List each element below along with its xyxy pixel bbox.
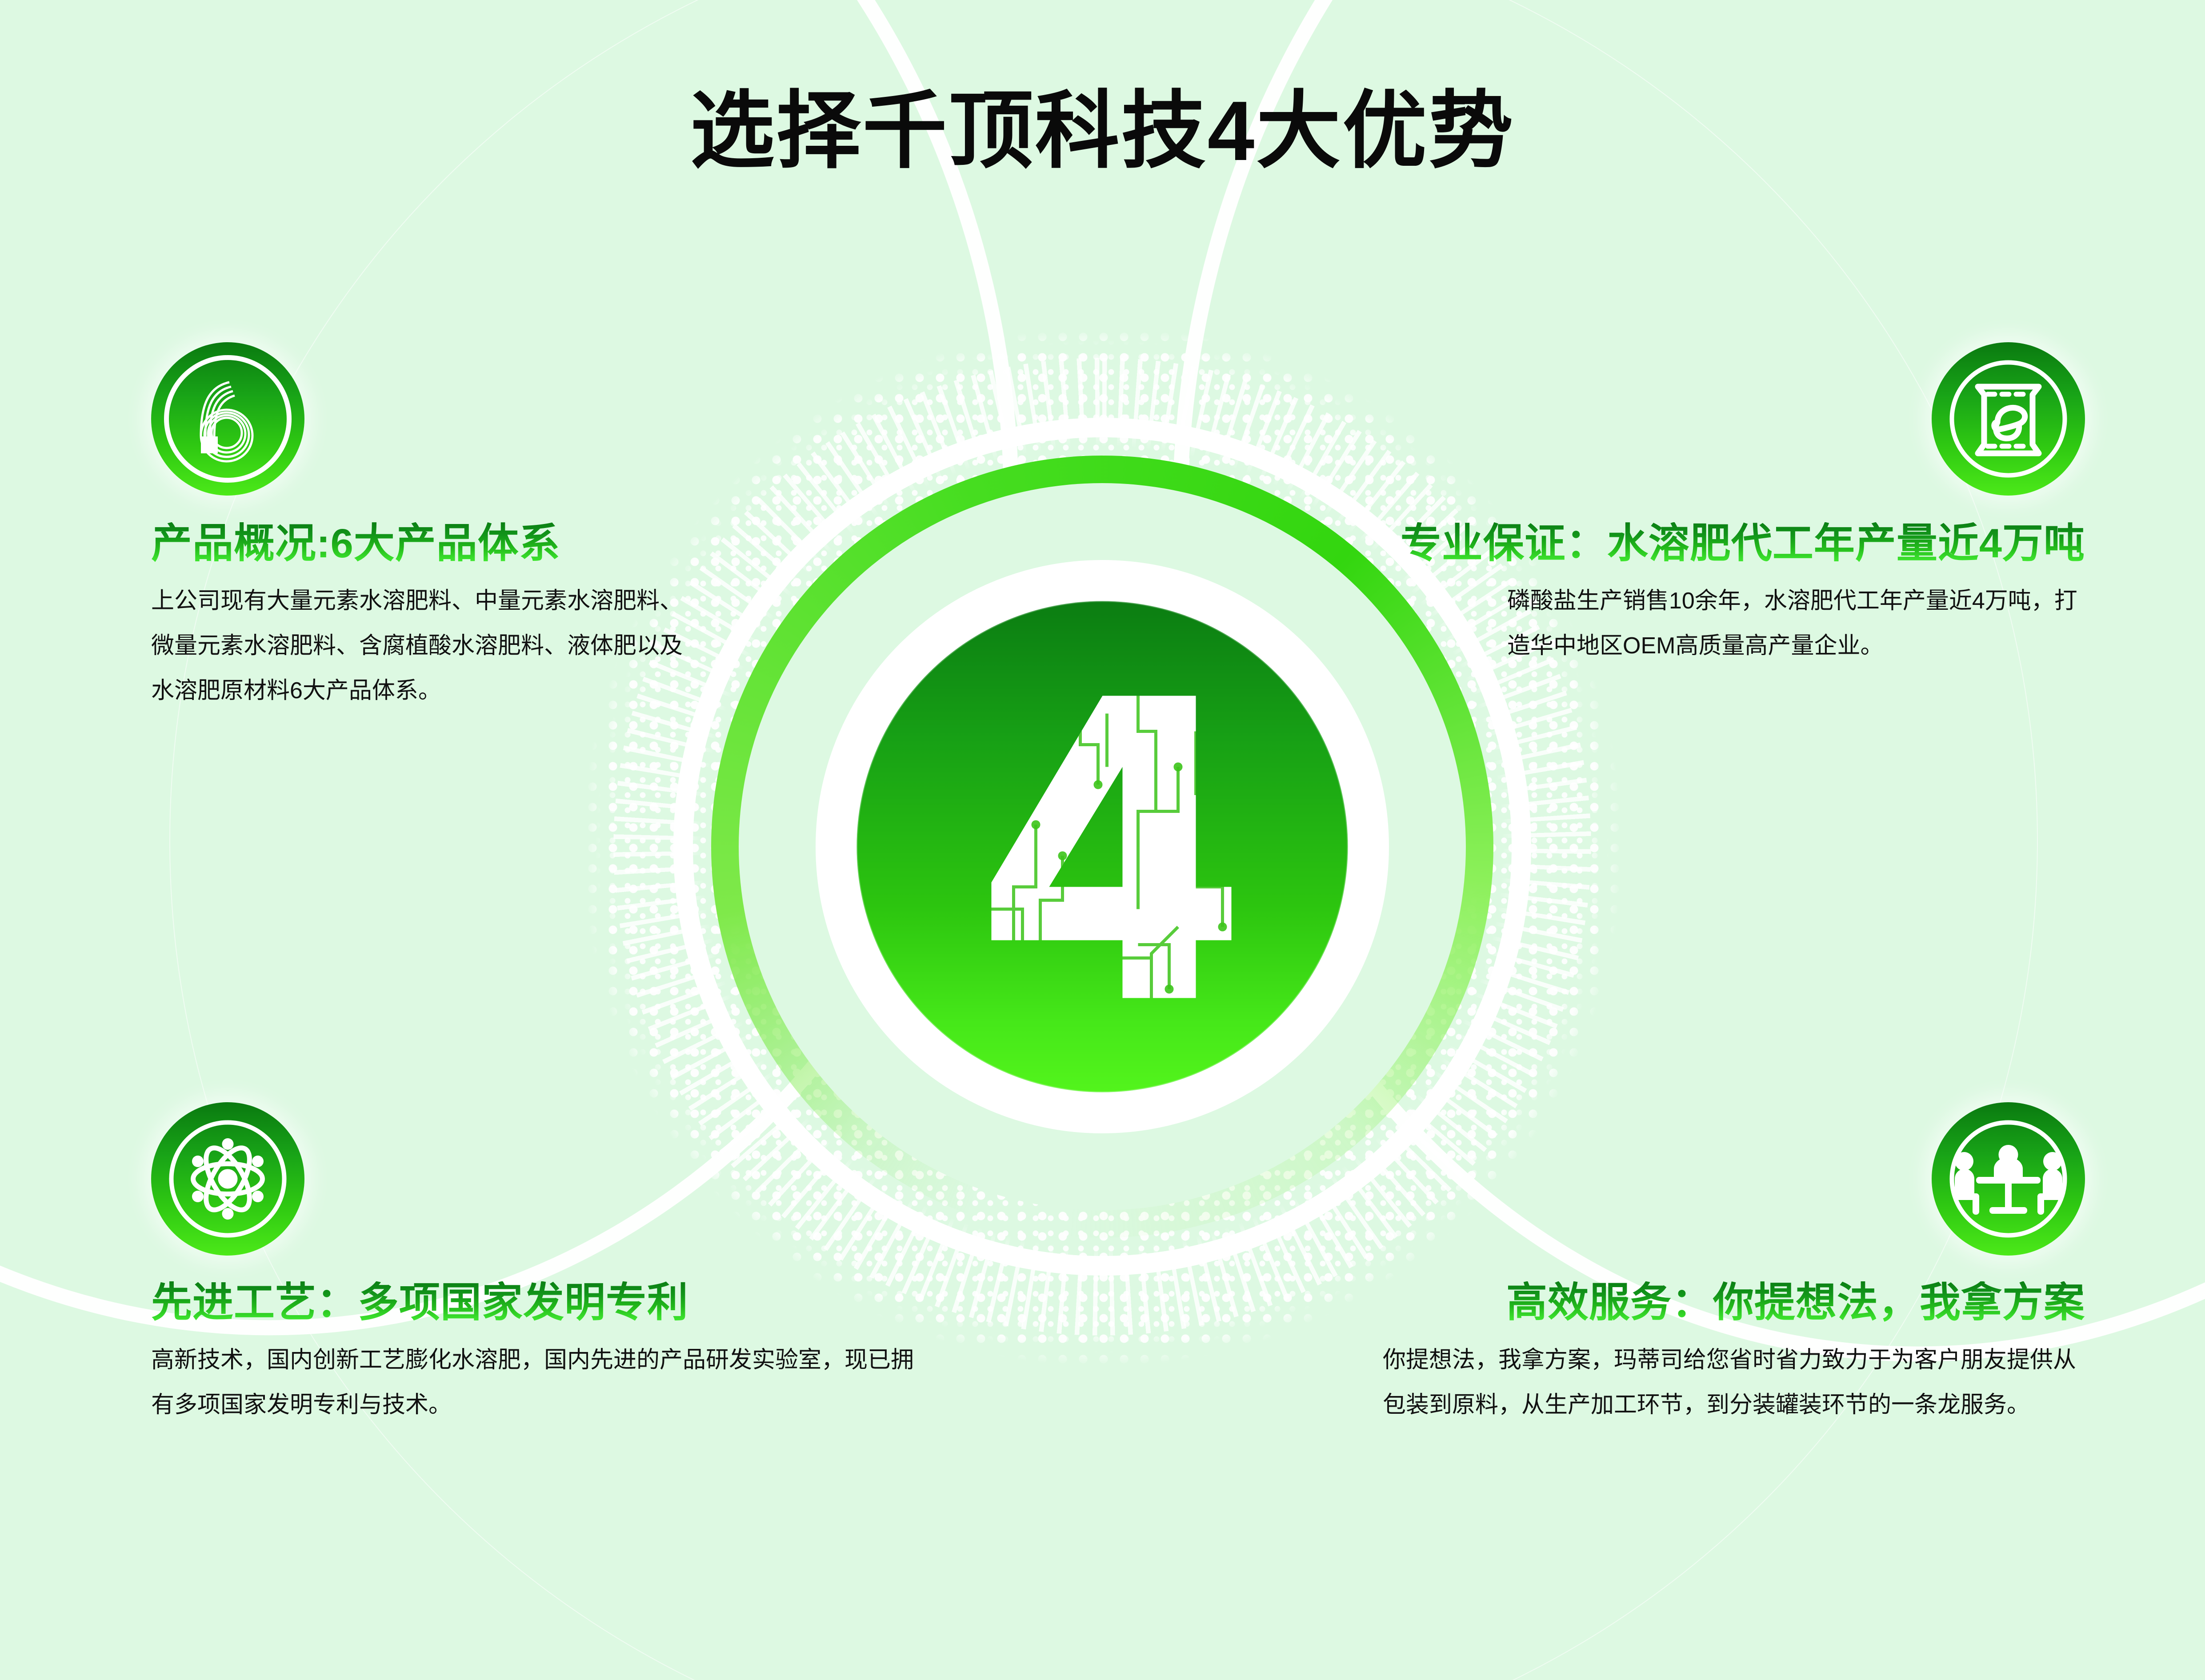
- advantage-heading: 产品概况:6大产品体系: [151, 522, 711, 565]
- advantage-block-professional-guarantee: 专业保证：水溶肥代工年产量近4万吨 磷酸盐生产销售10余年，水溶肥代工年产量近4…: [1049, 342, 2085, 668]
- advantage-heading: 先进工艺：多项国家发明专利: [151, 1281, 951, 1324]
- advantage-body: 你提想法，我拿方案，玛蒂司给您省时省力致力于为客户朋友提供从包装到原料，从生产加…: [1383, 1338, 2085, 1428]
- advantage-block-product-overview: 产品概况:6大产品体系 上公司现有大量元素水溶肥料、中量元素水溶肥料、微量元素水…: [151, 342, 711, 714]
- center-circle: [857, 601, 1348, 1092]
- advantage-heading: 高效服务：你提想法，我拿方案: [1506, 1281, 2085, 1324]
- advantage-body: 上公司现有大量元素水溶肥料、中量元素水溶肥料、微量元素水溶肥料、含腐植酸水溶肥料…: [151, 579, 689, 714]
- circuit-number-four-icon: [947, 678, 1258, 1016]
- atom-icon: [151, 1102, 304, 1256]
- number-six-badge-icon: [151, 342, 304, 496]
- team-meeting-icon: [1932, 1102, 2085, 1256]
- advantage-body: 磷酸盐生产销售10余年，水溶肥代工年产量近4万吨，打造华中地区OEM高质量高产量…: [1507, 579, 2085, 669]
- infographic-canvas: 选择千顶科技4大优势: [0, 0, 2205, 1680]
- advantage-body: 高新技术，国内创新工艺膨化水溶肥，国内先进的产品研发实验室，现已拥有多项国家发明…: [151, 1338, 916, 1428]
- advantage-heading: 专业保证：水溶肥代工年产量近4万吨: [1401, 522, 2085, 565]
- advantage-block-advanced-technology: 先进工艺：多项国家发明专利 高新技术，国内创新工艺膨化水溶肥，国内先进的产品研发…: [151, 1102, 951, 1428]
- fertilizer-bag-icon: [1932, 342, 2085, 496]
- advantage-block-efficient-service: 高效服务：你提想法，我拿方案 你提想法，我拿方案，玛蒂司给您省时省力致力于为客户…: [1241, 1102, 2085, 1428]
- page-title: 选择千顶科技4大优势: [0, 89, 2205, 173]
